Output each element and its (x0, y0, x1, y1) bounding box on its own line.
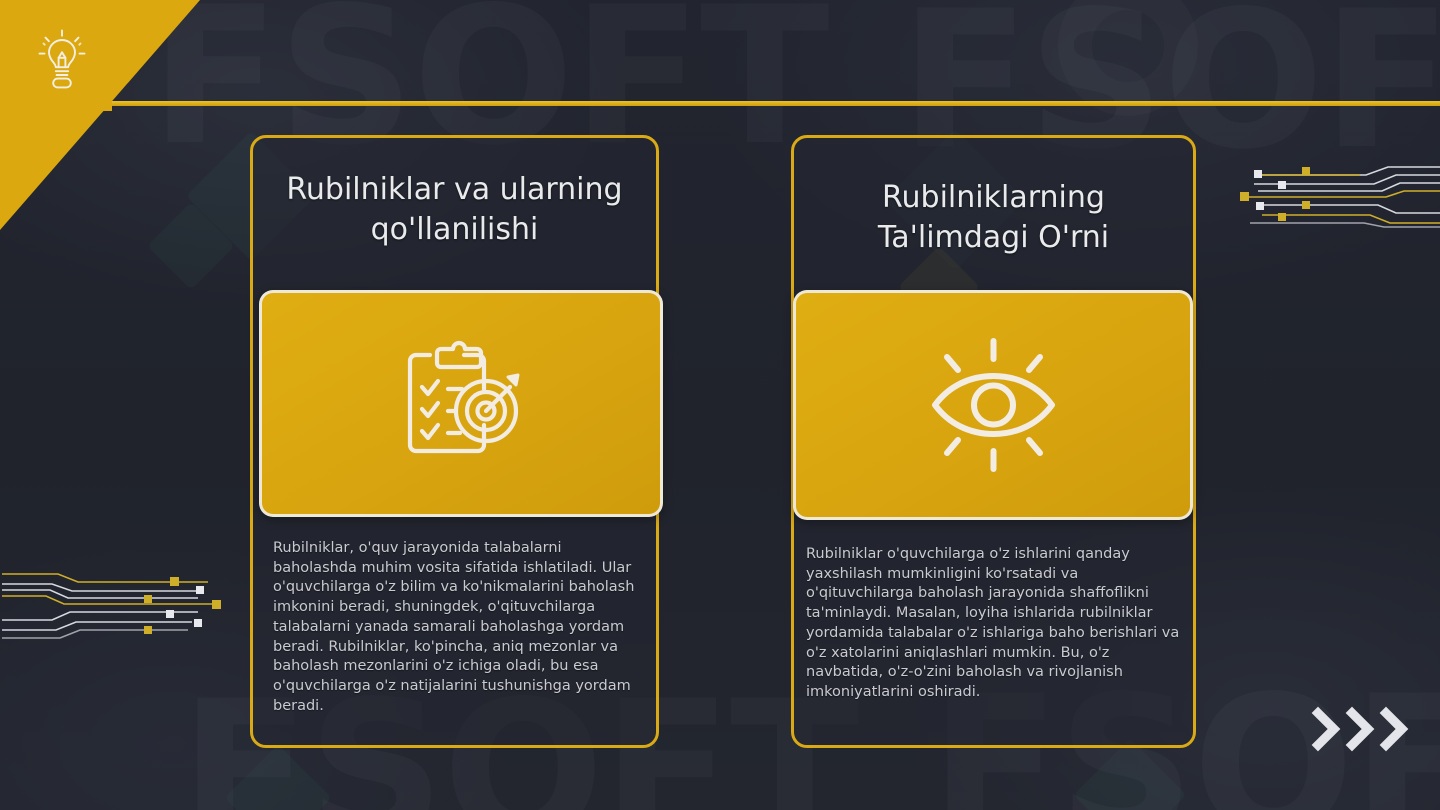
card-body-text: Rubilniklar o'quvchilarga o'z ishlarini … (806, 545, 1181, 703)
content-card-right[interactable]: Rubilniklarning Ta'limdagi O'rni Rubilni… (791, 135, 1196, 748)
card-title: Rubilniklar va ularning qo'llanilishi (253, 170, 656, 249)
triple-chevron-right-icon[interactable] (1310, 705, 1416, 753)
lightbulb-icon (36, 28, 88, 90)
card-image-panel (793, 290, 1193, 520)
horizontal-gold-divider (112, 101, 1440, 106)
circuit-traces-left-icon (2, 572, 230, 642)
card-title: Rubilniklarning Ta'limdagi O'rni (794, 178, 1193, 257)
card-image-panel (259, 290, 663, 517)
content-card-left[interactable]: Rubilniklar va ularning qo'llanilishi Ru… (250, 135, 659, 748)
card-body-text: Rubilniklar, o'quv jarayonida talabalarn… (273, 539, 638, 716)
circuit-traces-right-icon (1238, 165, 1440, 229)
clipboard-checklist-target-icon (386, 329, 536, 479)
eye-rays-icon (911, 325, 1076, 485)
